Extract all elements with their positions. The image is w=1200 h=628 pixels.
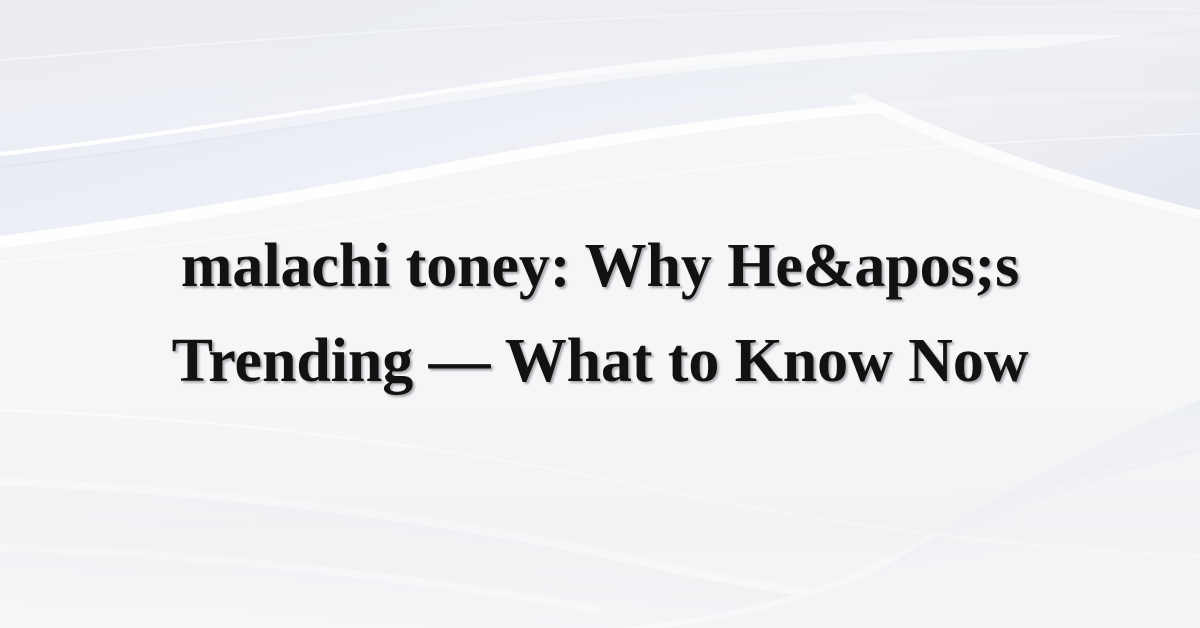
social-share-card: malachi toney: Why He&apos;s Trending — …: [0, 0, 1200, 628]
headline-text: malachi toney: Why He&apos;s Trending — …: [72, 219, 1128, 409]
headline-container: malachi toney: Why He&apos;s Trending — …: [0, 0, 1200, 628]
